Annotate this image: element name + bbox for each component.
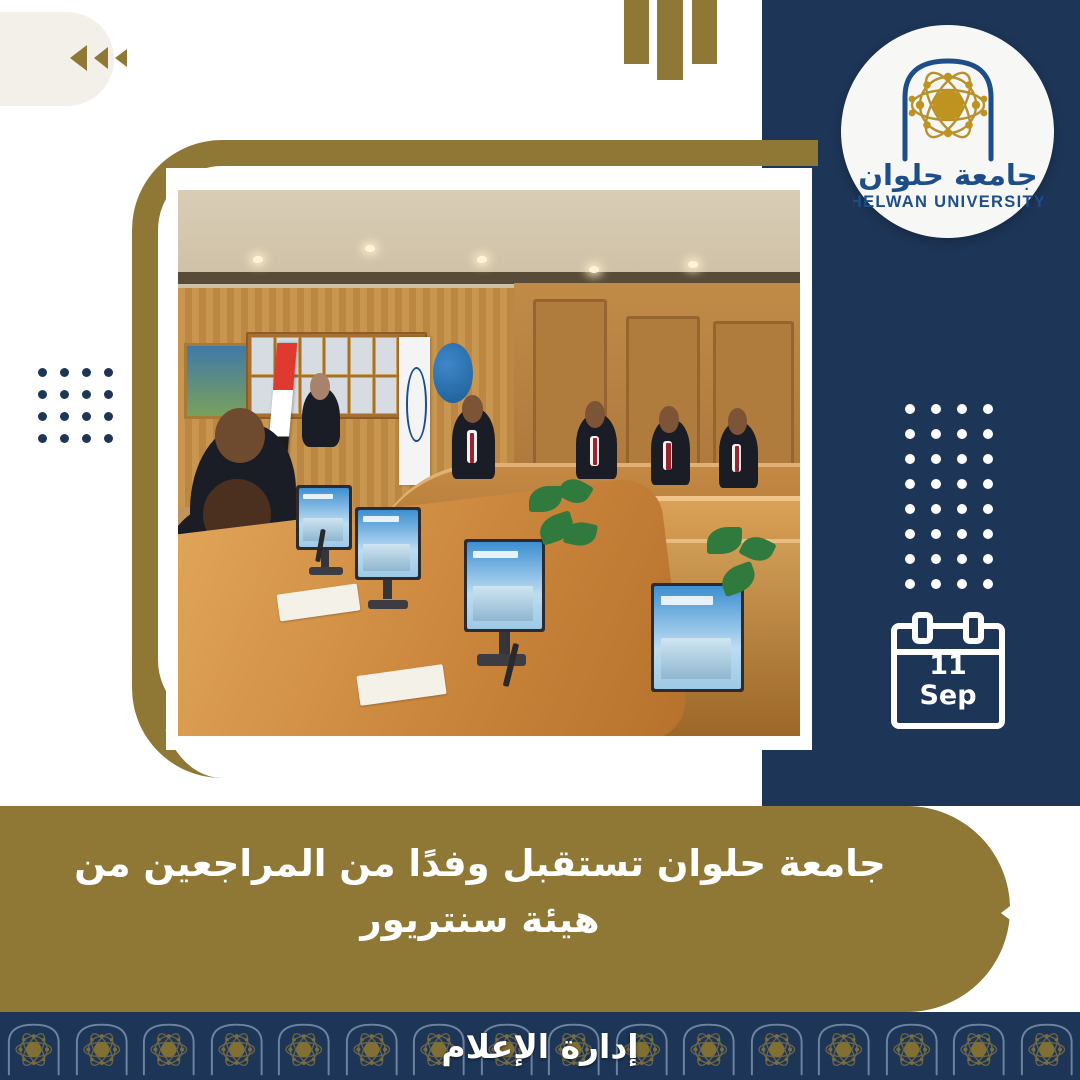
gold-bar-1 bbox=[624, 0, 649, 64]
potted-plant bbox=[700, 518, 787, 638]
photo-white-mat bbox=[166, 168, 812, 750]
conference-hall-illustration bbox=[178, 190, 800, 736]
gold-arrow-group bbox=[70, 45, 127, 71]
logo-english-name: HELWAN UNIVERSITY bbox=[853, 193, 1043, 211]
gold-bar-3 bbox=[692, 0, 717, 64]
gold-bar-2 bbox=[657, 0, 683, 80]
logo-arabic-name: جامعة حلوان bbox=[858, 158, 1037, 192]
white-arrow-group bbox=[1001, 900, 1062, 926]
footer-label: إدارة الإعلام bbox=[0, 1012, 1080, 1080]
meeting-photo bbox=[178, 190, 800, 736]
potted-plant bbox=[520, 474, 607, 594]
triangle-left-icon bbox=[1025, 902, 1040, 924]
triangle-left-icon bbox=[94, 47, 108, 69]
headline-text: جامعة حلوان تستقبل وفدًا من المراجعين من… bbox=[40, 836, 920, 947]
globe-decor bbox=[433, 343, 473, 403]
left-dot-grid bbox=[38, 368, 126, 456]
right-dot-grid bbox=[905, 404, 1009, 604]
triangle-left-icon bbox=[1047, 902, 1062, 924]
triangle-left-icon bbox=[1001, 900, 1018, 926]
helwan-university-logo: جامعة حلوان HELWAN UNIVERSITY bbox=[841, 25, 1054, 238]
logo-svg: جامعة حلوان HELWAN UNIVERSITY bbox=[853, 37, 1043, 227]
calendar-month: Sep bbox=[888, 680, 1008, 712]
poster-canvas: جامعة حلوان تستقبل وفدًا من المراجعين من… bbox=[0, 0, 1080, 1080]
footer-bar: إدارة الإعلام bbox=[0, 1012, 1080, 1080]
calendar-day: 11 bbox=[888, 650, 1008, 682]
triangle-left-icon bbox=[115, 49, 127, 67]
calendar-icon: 11 Sep bbox=[888, 612, 1008, 736]
triangle-left-icon bbox=[70, 45, 87, 71]
university-flag bbox=[399, 337, 430, 484]
